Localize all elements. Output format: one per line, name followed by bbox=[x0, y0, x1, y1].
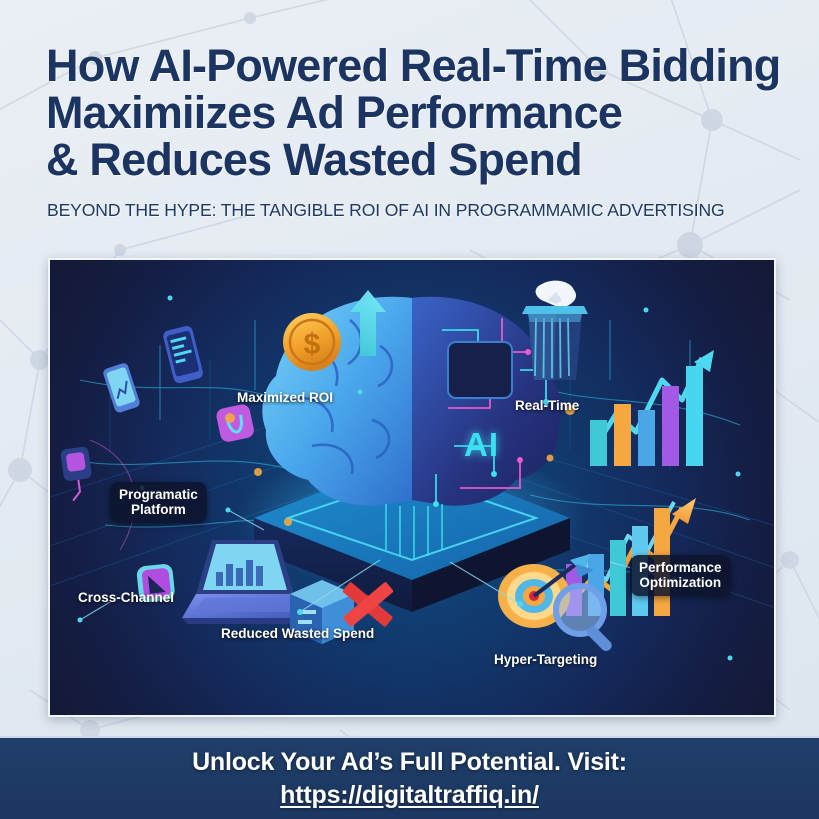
label-hyper-targeting: Hyper-Targeting bbox=[494, 652, 597, 667]
dollar-coin-icon: $ bbox=[283, 313, 341, 371]
label-real-time: Real-Time bbox=[515, 398, 579, 413]
magnifier-icon bbox=[556, 586, 614, 653]
label-cross-channel: Cross-Channel bbox=[78, 590, 174, 605]
illustration-panel: $ bbox=[48, 258, 776, 717]
crumpled-paper-icon bbox=[536, 281, 576, 308]
cta-url-link[interactable]: https://digitaltraffiq.in/ bbox=[280, 781, 539, 810]
cta-text: Unlock Your Ad’s Full Potential. Visit: bbox=[0, 748, 819, 777]
label-maximized-roi: Maximized ROI bbox=[237, 390, 333, 405]
label-reduced-wasted-spend: Reduced Wasted Spend bbox=[221, 626, 374, 641]
infographic-poster: How AI-Powered Real-Time Bidding Maximii… bbox=[0, 0, 819, 819]
page-title: How AI-Powered Real-Time Bidding Maximii… bbox=[46, 42, 786, 183]
cta-footer-bar: Unlock Your Ad’s Full Potential. Visit: … bbox=[0, 736, 819, 819]
label-performance-optimization: Performance Optimization bbox=[630, 555, 731, 596]
label-programmatic-platform: Programatic Platform bbox=[110, 482, 207, 523]
svg-text:$: $ bbox=[304, 328, 321, 361]
smartphone-icon bbox=[102, 325, 204, 414]
ai-chip-label: AI bbox=[464, 426, 499, 464]
page-subtitle: BEYOND THE HYPE: THE TANGIBLE ROI OF AI … bbox=[47, 200, 792, 220]
bar-chart-icon bbox=[590, 350, 714, 466]
